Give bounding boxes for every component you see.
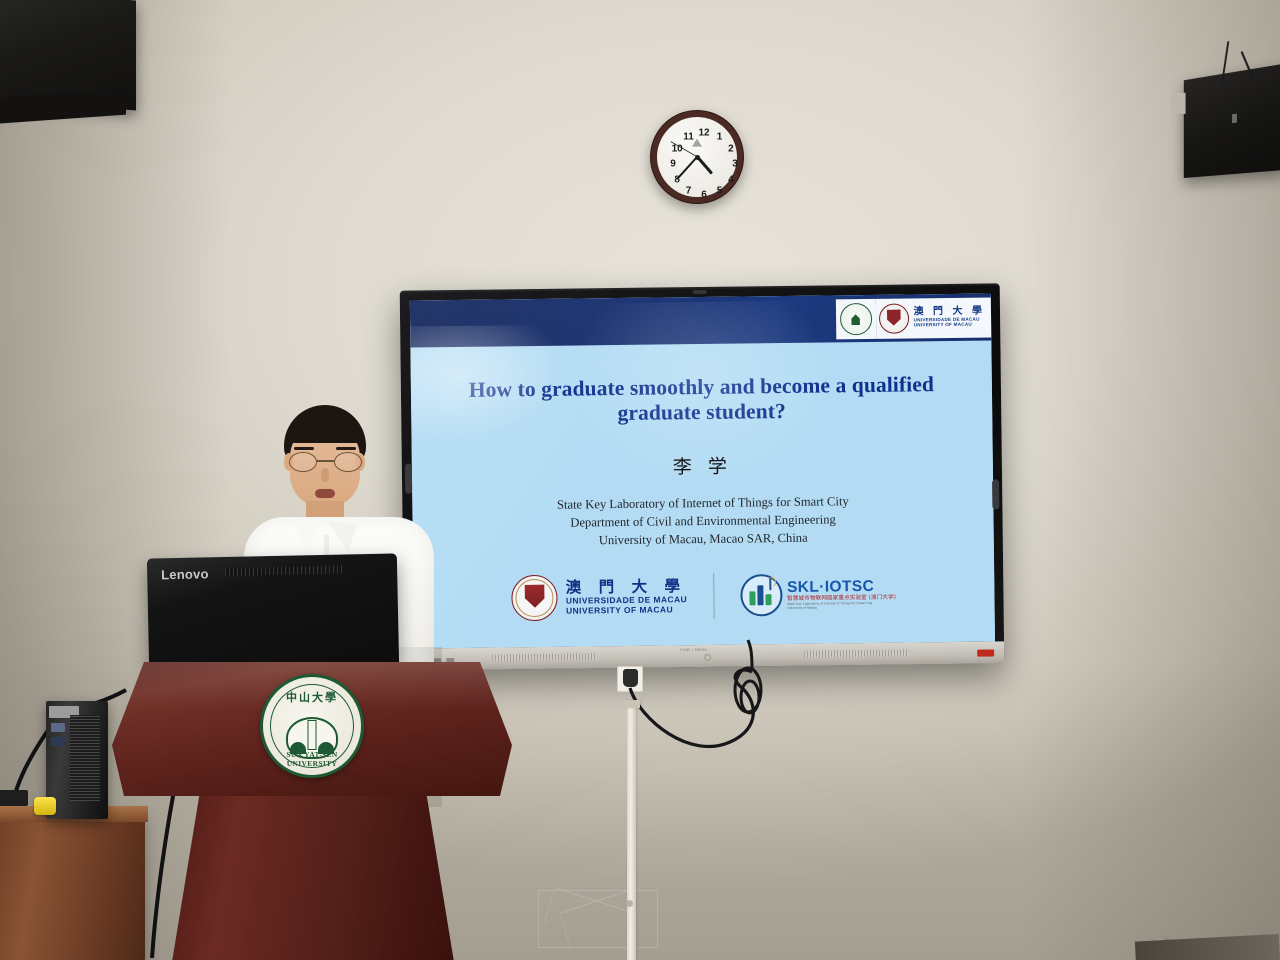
display-power-indicator — [977, 649, 994, 656]
um-crest-icon-large — [512, 575, 559, 622]
clock-center-pin — [695, 155, 700, 160]
um-logo-text: 澳 門 大 學 UNIVERSIDADE DE MACAU UNIVERSITY… — [913, 307, 985, 328]
syu-seal-shape — [839, 302, 871, 334]
emblem-english-text: SUN YAT-SEN UNIVERSITY — [263, 750, 361, 768]
pc-vent-mesh — [70, 715, 100, 801]
antenna-mast-icon — [769, 578, 771, 590]
clock-numeral: 1 — [717, 132, 723, 143]
lens-left — [289, 452, 317, 472]
presenter-eyebrow-right — [336, 447, 356, 450]
lectern: 中山大學 SUN YAT-SEN UNIVERSITY — [112, 662, 512, 960]
clock-face: 121234567891011 — [657, 117, 737, 197]
conduit-screw — [626, 900, 633, 907]
display-bezel: 澳 門 大 學 UNIVERSIDADE DE MACAU UNIVERSITY… — [400, 283, 1005, 670]
university-of-macau-logo-icon: 澳 門 大 學 UNIVERSIDADE DE MACAU UNIVERSITY… — [875, 297, 991, 338]
emblem-tower — [308, 720, 317, 750]
wall-clock: 121234567891011 — [650, 110, 744, 204]
display-screen[interactable]: 澳 門 大 學 UNIVERSIDADE DE MACAU UNIVERSITY… — [410, 293, 995, 648]
presenter-mouth — [315, 489, 335, 498]
wall-marking — [538, 890, 658, 948]
wall-conduit-cap — [624, 700, 640, 708]
clock-numeral: 4 — [728, 174, 734, 185]
um-english-name: UNIVERSITY OF MACAU — [914, 322, 986, 328]
display-status-label: PWR / MENU — [680, 647, 708, 652]
footer-skl-logo: SKL·IOTSC 智慧城市物联网国家重点实验室 (澳门大学) State Ke… — [740, 573, 896, 617]
pc-usb-port — [51, 737, 65, 746]
lectern-base — [172, 790, 454, 960]
presenter-eyebrow-left — [294, 447, 314, 450]
speaker-led — [1232, 114, 1237, 124]
footer-um-text: 澳 門 大 學 UNIVERSIDADE DE MACAU UNIVERSITY… — [566, 578, 688, 616]
power-plug-icon — [623, 669, 638, 687]
ceiling-speaker-right-icon — [1184, 63, 1280, 178]
building-bar-3 — [765, 594, 771, 605]
interactive-flat-panel[interactable]: 澳 門 大 學 UNIVERSIDADE DE MACAU UNIVERSITY… — [400, 283, 1005, 670]
footer-divider — [713, 573, 715, 619]
skl-text-block: SKL·IOTSC 智慧城市物联网国家重点实验室 (澳门大学) State Ke… — [787, 579, 896, 610]
lecture-room-scene: 121234567891011 — [0, 0, 1280, 960]
clock-numeral: 9 — [670, 159, 676, 170]
building-bar-1 — [749, 591, 755, 605]
clock-numeral: 5 — [717, 185, 723, 196]
pc-vga-port — [51, 723, 65, 732]
camera-icon — [693, 290, 707, 294]
clock-numeral: 11 — [683, 132, 694, 143]
iot-smart-city-icon — [740, 574, 783, 617]
speaker-grille-right — [804, 649, 909, 657]
clock-numeral: 3 — [732, 159, 738, 170]
lectern-top: 中山大學 SUN YAT-SEN UNIVERSITY — [112, 662, 512, 796]
laptop-brand-logo: Lenovo — [161, 566, 209, 582]
presentation-slide: 澳 門 大 學 UNIVERSIDADE DE MACAU UNIVERSITY… — [410, 293, 995, 648]
presenter-fringe — [286, 417, 364, 443]
clock-numeral: 12 — [698, 128, 709, 139]
slide-affiliation: State Key Laboratory of Internet of Thin… — [412, 491, 994, 552]
um-crest-icon — [878, 303, 908, 333]
presenter-nose — [321, 468, 329, 482]
emblem-chinese-text: 中山大學 — [263, 689, 361, 705]
slide-header-logos: 澳 門 大 學 UNIVERSIDADE DE MACAU UNIVERSITY… — [835, 297, 991, 339]
building-bar-2 — [757, 585, 763, 605]
slide-footer-logos: 澳 門 大 學 UNIVERSIDADE DE MACAU UNIVERSITY… — [413, 561, 995, 630]
clock-numeral: 7 — [686, 185, 692, 196]
clock-numeral: 6 — [701, 190, 707, 201]
laptop-lid: Lenovo — [147, 553, 399, 670]
lens-right — [334, 452, 362, 472]
speaker-grille-left — [492, 653, 597, 661]
slide-header-bar: 澳 門 大 學 UNIVERSIDADE DE MACAU UNIVERSITY… — [410, 293, 992, 347]
footer-um-logo: 澳 門 大 學 UNIVERSIDADE DE MACAU UNIVERSITY… — [512, 573, 688, 621]
glasses-bridge — [317, 460, 334, 462]
skl-acronym: SKL·IOTSC — [787, 579, 896, 597]
yellow-power-plug — [34, 797, 56, 815]
footer-um-english: UNIVERSITY OF MACAU — [566, 605, 687, 616]
skl-subtitle-2: University of Macau — [787, 605, 896, 610]
ceiling-speaker-left-icon — [0, 0, 136, 111]
speaker-bracket — [1171, 92, 1185, 114]
ir-sensor-icon — [704, 654, 711, 661]
sun-yat-sen-university-emblem: 中山大學 SUN YAT-SEN UNIVERSITY — [260, 674, 364, 778]
equipment-table — [0, 812, 145, 960]
slide-author-name: 李 学 — [412, 448, 993, 482]
display-side-button-right[interactable] — [992, 479, 999, 509]
table-dark-object — [0, 790, 28, 806]
clock-numeral: 2 — [728, 143, 734, 154]
laptop-vent — [225, 566, 343, 576]
wall-conduit — [627, 705, 636, 960]
slide-title: How to graduate smoothly and become a qu… — [445, 372, 959, 429]
presenter-laptop[interactable]: Lenovo — [147, 553, 399, 670]
sun-yat-sen-seal-icon — [835, 298, 875, 338]
